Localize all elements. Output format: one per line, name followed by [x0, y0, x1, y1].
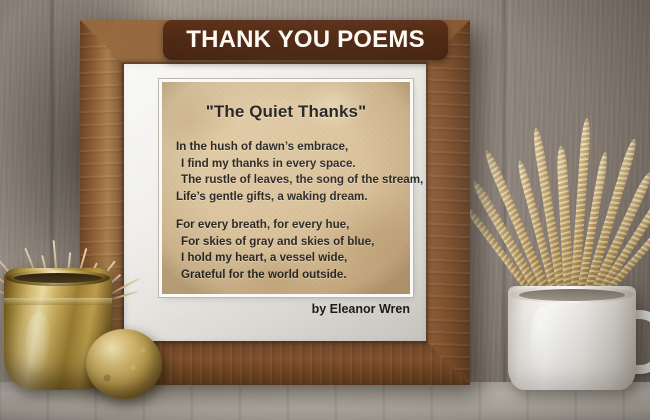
gold-sphere-texture — [86, 329, 162, 399]
poem-stanza-1: In the hush of dawn’s embrace, I find my… — [176, 139, 398, 205]
gold-sphere — [86, 329, 162, 399]
poem-line: Life’s gentle gifts, a waking dream. — [176, 189, 398, 206]
frame-moulding-right — [426, 20, 470, 385]
picture-frame: "The Quiet Thanks" In the hush of dawn’s… — [80, 20, 470, 385]
brass-jar-band — [4, 298, 112, 305]
thank-you-poems-banner: THANK YOU POEMS — [163, 20, 448, 60]
banner-label: THANK YOU POEMS — [186, 26, 425, 54]
poem-line: The rustle of leaves, the song of the st… — [176, 172, 398, 189]
parchment-window: "The Quiet Thanks" In the hush of dawn’s… — [162, 82, 410, 294]
brass-jar-mouth — [14, 273, 102, 283]
poem-stanza-2: For every breath, for every hue, For ski… — [176, 217, 398, 283]
poem-body: "The Quiet Thanks" In the hush of dawn’s… — [162, 82, 410, 294]
poem-line: Grateful for the world outside. — [176, 267, 398, 284]
pampas-grass-bunch — [492, 96, 650, 296]
poem-line: In the hush of dawn’s embrace, — [176, 139, 398, 156]
poem-line: For every breath, for every hue, — [176, 217, 398, 234]
framed-poem-scene: "The Quiet Thanks" In the hush of dawn’s… — [0, 0, 650, 420]
white-ceramic-pot — [508, 286, 636, 390]
poem-title: "The Quiet Thanks" — [174, 102, 398, 122]
pot-mouth — [519, 289, 625, 301]
pot-highlight — [530, 306, 556, 378]
mat-board: "The Quiet Thanks" In the hush of dawn’s… — [124, 64, 426, 341]
poem-line: I find my thanks in every space. — [176, 156, 398, 173]
poem-line: I hold my heart, a vessel wide, — [176, 250, 398, 267]
brass-jar-highlight — [26, 312, 52, 374]
poem-author-byline: by Eleanor Wren — [284, 302, 410, 316]
poem-line: For skies of gray and skies of blue, — [176, 234, 398, 251]
